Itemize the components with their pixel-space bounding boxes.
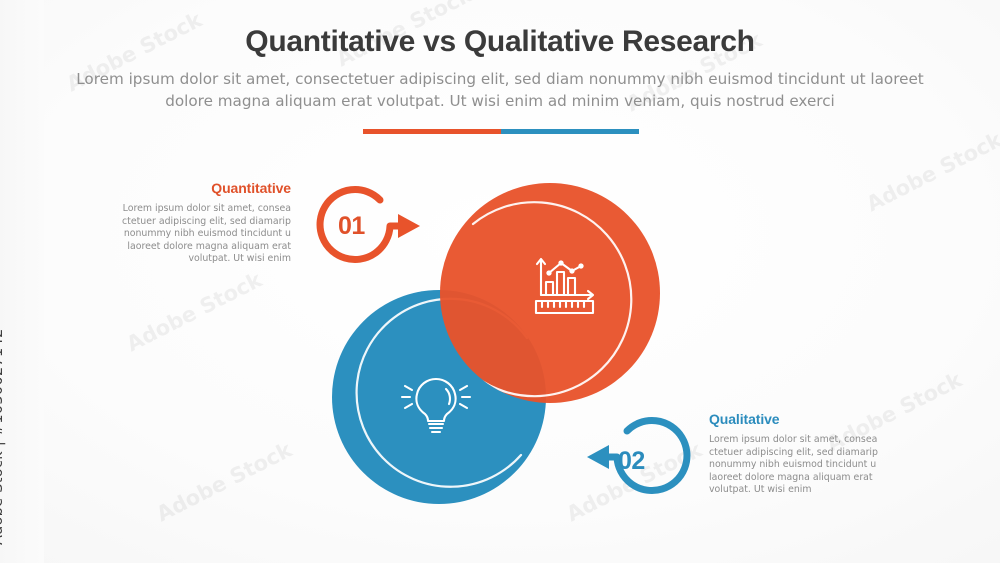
badge-02-number: 02 — [618, 447, 645, 476]
quantitative-block: Quantitative Lorem ipsum dolor sit amet,… — [91, 180, 291, 266]
quantitative-heading: Quantitative — [91, 180, 291, 196]
infographic-slide: Adobe Stock Adobe Stock Adobe Stock Adob… — [0, 0, 1000, 563]
qualitative-heading: Qualitative — [709, 411, 909, 427]
step-badge-01[interactable] — [320, 190, 420, 260]
badge-02-arrow-head — [587, 445, 609, 469]
qualitative-body: Lorem ipsum dolor sit amet, consea ctetu… — [709, 434, 909, 497]
watermark-rail: Adobe Stock | #1030027142 — [0, 0, 44, 563]
qualitative-block: Qualitative Lorem ipsum dolor sit amet, … — [709, 411, 909, 497]
orange-circle — [440, 183, 660, 403]
badge-01-number: 01 — [338, 212, 365, 241]
watermark-rail-text: Adobe Stock | #1030027142 — [0, 328, 6, 545]
badge-01-arrow-head — [398, 214, 420, 238]
quantitative-body: Lorem ipsum dolor sit amet, consea ctetu… — [91, 203, 291, 266]
